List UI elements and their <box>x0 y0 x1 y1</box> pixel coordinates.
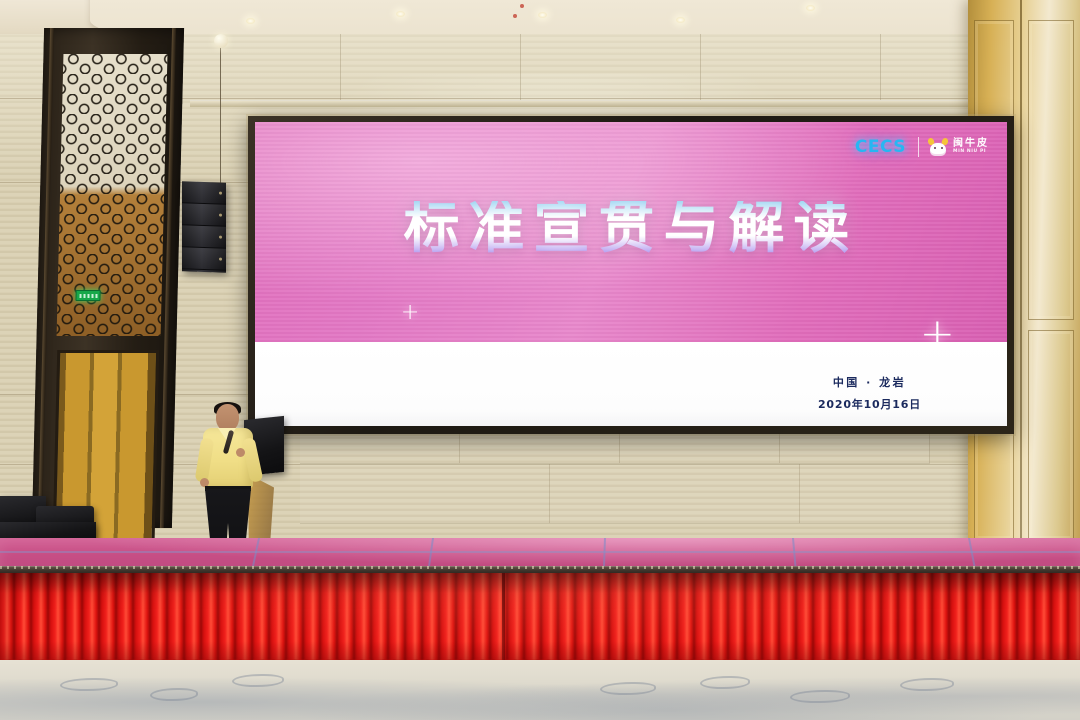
mascot-name-sub: MIN NIU PI <box>953 150 989 155</box>
stage-panel-seam-horizontal <box>0 551 1080 553</box>
ceiling-downlight <box>676 17 685 23</box>
ceiling-sensor-indicator <box>513 14 517 18</box>
speaker-led <box>219 258 222 261</box>
pendant-wire <box>220 36 221 196</box>
decorative-plus-large-icon: + <box>920 318 955 351</box>
wall-seam <box>880 34 881 104</box>
speaker-led <box>219 214 222 217</box>
carpet-pattern-motif <box>150 688 198 701</box>
exit-sign <box>75 290 100 301</box>
speaker-cell <box>182 225 226 249</box>
presenter-hand-right <box>236 448 245 457</box>
mascot-body <box>930 143 946 156</box>
ceiling-downlight <box>246 18 255 24</box>
cow-mascot-icon <box>928 137 949 158</box>
wall-seam <box>700 34 701 104</box>
slide-date: 2020年10月16日 <box>818 396 921 412</box>
wall-cornice-ledge <box>190 100 1080 107</box>
carpet-pattern-motif <box>600 682 656 695</box>
door-panel <box>1028 20 1074 320</box>
wall-stone-block <box>800 464 980 524</box>
presenter-head <box>216 404 239 431</box>
stage-skirt-shading <box>0 573 1080 665</box>
line-array-speaker <box>182 181 226 273</box>
ceiling-downlight <box>396 11 405 17</box>
wall-stone-block <box>550 464 800 524</box>
speaker-cell <box>182 203 226 227</box>
door-split-line <box>1020 0 1022 560</box>
slide-title: 标准宣贯与解读 <box>255 201 1007 257</box>
lattice-screen-panel <box>57 54 168 336</box>
mascot-wordmark: 闽牛皮 MIN NIU PI <box>953 139 989 155</box>
door-panel <box>1028 330 1074 540</box>
slide-logo-row: CECS 闽牛皮 MIN NIU PI <box>852 136 989 158</box>
mascot-eye-right <box>941 147 943 149</box>
ceiling-downlight <box>806 5 815 11</box>
ceiling-sensor-indicator <box>520 4 524 8</box>
carpet-pattern-motif <box>232 674 284 687</box>
wall-stone-block <box>300 464 550 524</box>
speaker-cell <box>182 181 226 205</box>
conference-hall-photo: CECS 闽牛皮 MIN NIU PI 标准宣贯与解 <box>0 0 1080 720</box>
carpet-pattern-motif <box>900 678 954 691</box>
stage-skirt-drape <box>0 573 1080 665</box>
led-screen-frame: CECS 闽牛皮 MIN NIU PI 标准宣贯与解 <box>248 116 1014 434</box>
ballroom-carpet-floor <box>0 660 1080 720</box>
mascot-eye-left <box>934 147 936 149</box>
skirt-seam <box>502 573 505 665</box>
speaker-led <box>219 236 222 239</box>
lattice-mesh-pattern <box>57 54 168 336</box>
speaker-led <box>219 192 222 195</box>
ceiling-downlight <box>538 12 547 18</box>
carpet-pattern-motif <box>790 690 850 703</box>
cecs-logo: CECS <box>852 136 909 158</box>
carpet-pattern-motif <box>700 676 750 689</box>
wall-seam <box>340 34 341 104</box>
stage-edge-trim <box>0 566 1080 569</box>
pendant-lamp <box>214 34 228 48</box>
slide-footer: 中国 · 龙岩 2020年10月16日 <box>818 374 921 412</box>
mascot-logo: 闽牛皮 MIN NIU PI <box>928 137 989 158</box>
mascot-name-cn: 闽牛皮 <box>953 139 989 149</box>
logo-divider <box>918 137 919 157</box>
left-decorative-frame <box>32 28 184 528</box>
decorative-plus-small-icon: + <box>401 304 419 321</box>
led-screen[interactable]: CECS 闽牛皮 MIN NIU PI 标准宣贯与解 <box>255 122 1007 426</box>
speaker-cell <box>182 247 226 271</box>
slide-location: 中国 · 龙岩 <box>818 374 921 390</box>
carpet-pattern-motif <box>60 678 118 691</box>
wall-seam <box>520 34 521 104</box>
